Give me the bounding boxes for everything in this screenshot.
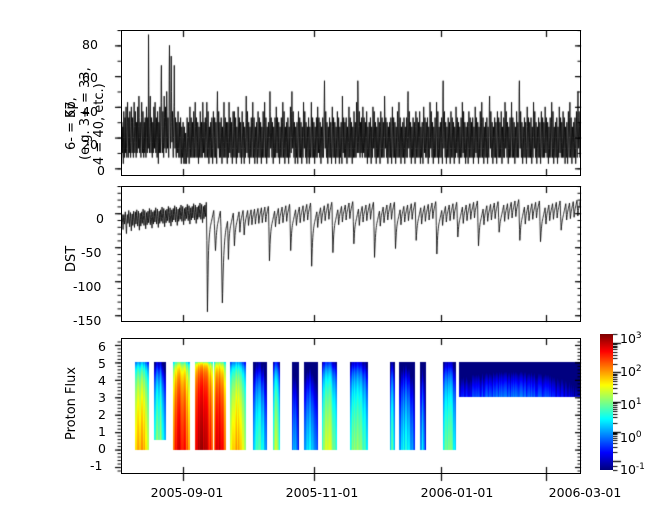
dst-ytick-m50: -50 <box>81 245 101 260</box>
colorbar-tick-1e3: 103 <box>620 331 642 346</box>
pf-ytick-4: 4 <box>98 373 106 388</box>
dst-ytick-m150: -150 <box>73 313 101 328</box>
pf-ytick-6: 6 <box>98 339 106 354</box>
pf-ytick-1: 1 <box>98 424 106 439</box>
xtick-2006-03-01: 2006-03-01 <box>535 485 635 500</box>
cb-mantissa-0: 10 <box>620 430 636 445</box>
cb-exp-3: 3 <box>636 331 642 341</box>
xtick-2005-11-01: 2005-11-01 <box>272 485 372 500</box>
kp-ytick-80: 80 <box>82 37 98 52</box>
kp-axis-label-note2: 6- = 57, <box>64 97 79 150</box>
cb-mantissa-3: 10 <box>620 331 636 346</box>
colorbar-tick-1e2: 102 <box>620 364 642 379</box>
dst-ytick-0: 0 <box>96 211 104 226</box>
pf-ytick-5: 5 <box>98 356 106 371</box>
proton-flux-axis-label: Proton Flux <box>64 367 79 440</box>
xtick-2006-01-01: 2006-01-01 <box>407 485 507 500</box>
colorbar-tick-1e0: 100 <box>620 430 642 445</box>
cb-exp-0: 0 <box>636 430 642 440</box>
cb-mantissa-1: 10 <box>620 397 636 412</box>
pf-ytick-3: 3 <box>98 390 106 405</box>
cb-exp-1: 1 <box>636 397 642 407</box>
colorbar-tick-1e1: 101 <box>620 397 642 412</box>
dst-axis-label: DST <box>64 246 79 272</box>
kp-ytick-60: 60 <box>82 70 98 85</box>
pf-ytick-m1: -1 <box>90 458 102 473</box>
pf-ytick-0: 0 <box>98 441 106 456</box>
colorbar-tick-1em1: 10-1 <box>620 462 645 477</box>
dst-ytick-m100: -100 <box>73 279 101 294</box>
pf-ytick-2: 2 <box>98 407 106 422</box>
colorbar-gradient <box>600 334 613 470</box>
xtick-2005-09-01: 2005-09-01 <box>137 485 237 500</box>
kp-ytick-20: 20 <box>82 137 98 152</box>
kp-ytick-40: 40 <box>82 104 98 119</box>
dst-axis-ticks <box>107 186 583 334</box>
cb-mantissa-2: 10 <box>620 364 636 379</box>
proton-flux-axis-ticks <box>107 338 583 486</box>
kp-axis-label-note3: 4 = 40, etc.) <box>92 83 107 165</box>
cb-exp-2: 2 <box>636 364 642 374</box>
cb-mantissa-m1: 10 <box>620 462 636 477</box>
kp-axis-ticks <box>107 30 583 188</box>
kp-ytick-0: 0 <box>97 163 105 178</box>
figure-canvas: Kp (e.g. 3+ = 33, 6- = 57, 4 = 40, etc.)… <box>0 0 665 523</box>
cb-exp-m1: -1 <box>636 462 645 472</box>
